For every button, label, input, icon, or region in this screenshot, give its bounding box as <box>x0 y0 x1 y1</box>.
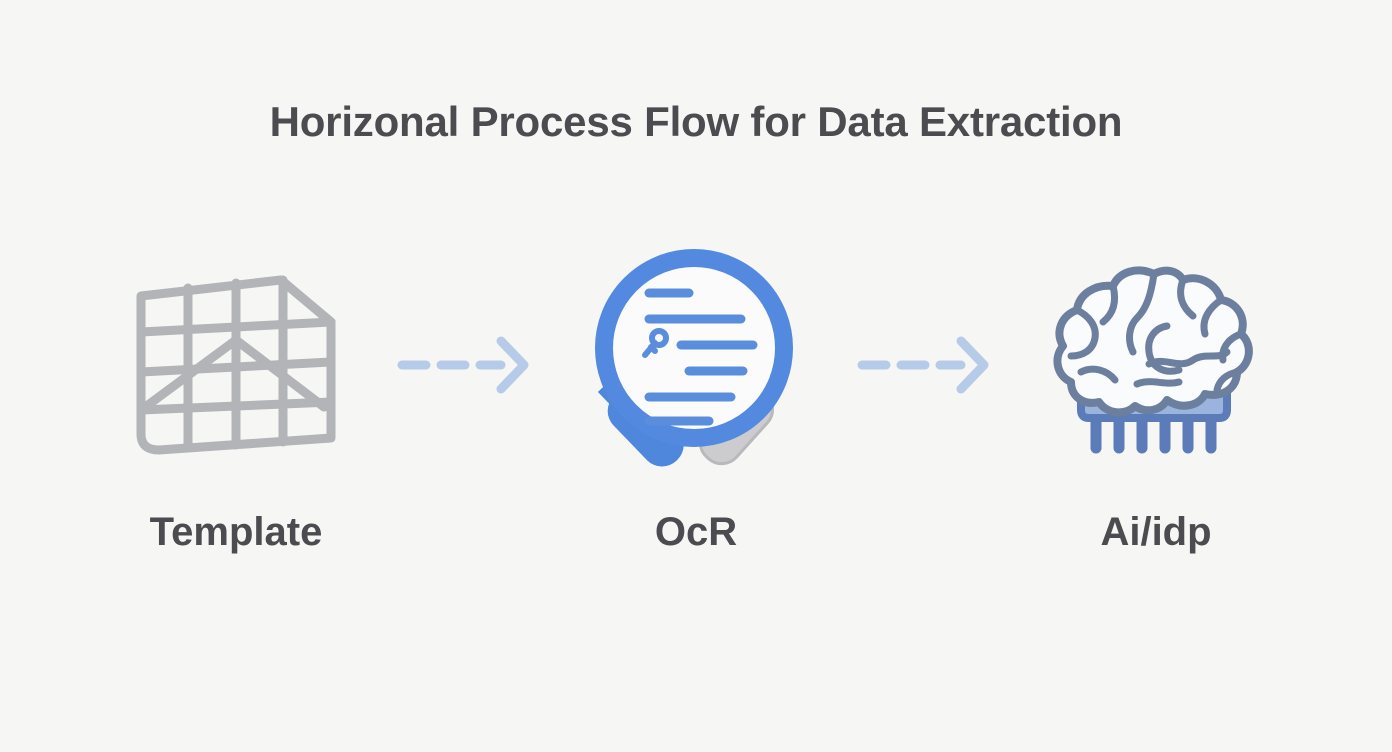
grid-template-icon <box>131 270 341 460</box>
flow-step-template[interactable] <box>111 240 361 490</box>
flow-connector-1 <box>361 240 571 490</box>
process-labels-row: Template OcR Ai/idp <box>0 492 1392 572</box>
flow-step-ai-idp[interactable] <box>1031 240 1281 490</box>
diagram-canvas: Horizonal Process Flow for Data Extracti… <box>0 0 1392 752</box>
dashed-arrow-icon <box>396 335 536 395</box>
flow-connector-2 <box>821 240 1031 490</box>
dashed-arrow-icon <box>856 335 996 395</box>
brain-chip-icon <box>1041 260 1271 470</box>
flow-step-label-template: Template <box>111 510 361 555</box>
page-title: Horizonal Process Flow for Data Extracti… <box>0 98 1392 146</box>
process-flow-row <box>0 240 1392 490</box>
flow-step-label-ai-idp: Ai/idp <box>1031 510 1281 555</box>
flow-step-label-ocr: OcR <box>571 510 821 555</box>
flow-step-ocr[interactable] <box>571 240 821 490</box>
magnifier-document-icon <box>571 245 821 485</box>
